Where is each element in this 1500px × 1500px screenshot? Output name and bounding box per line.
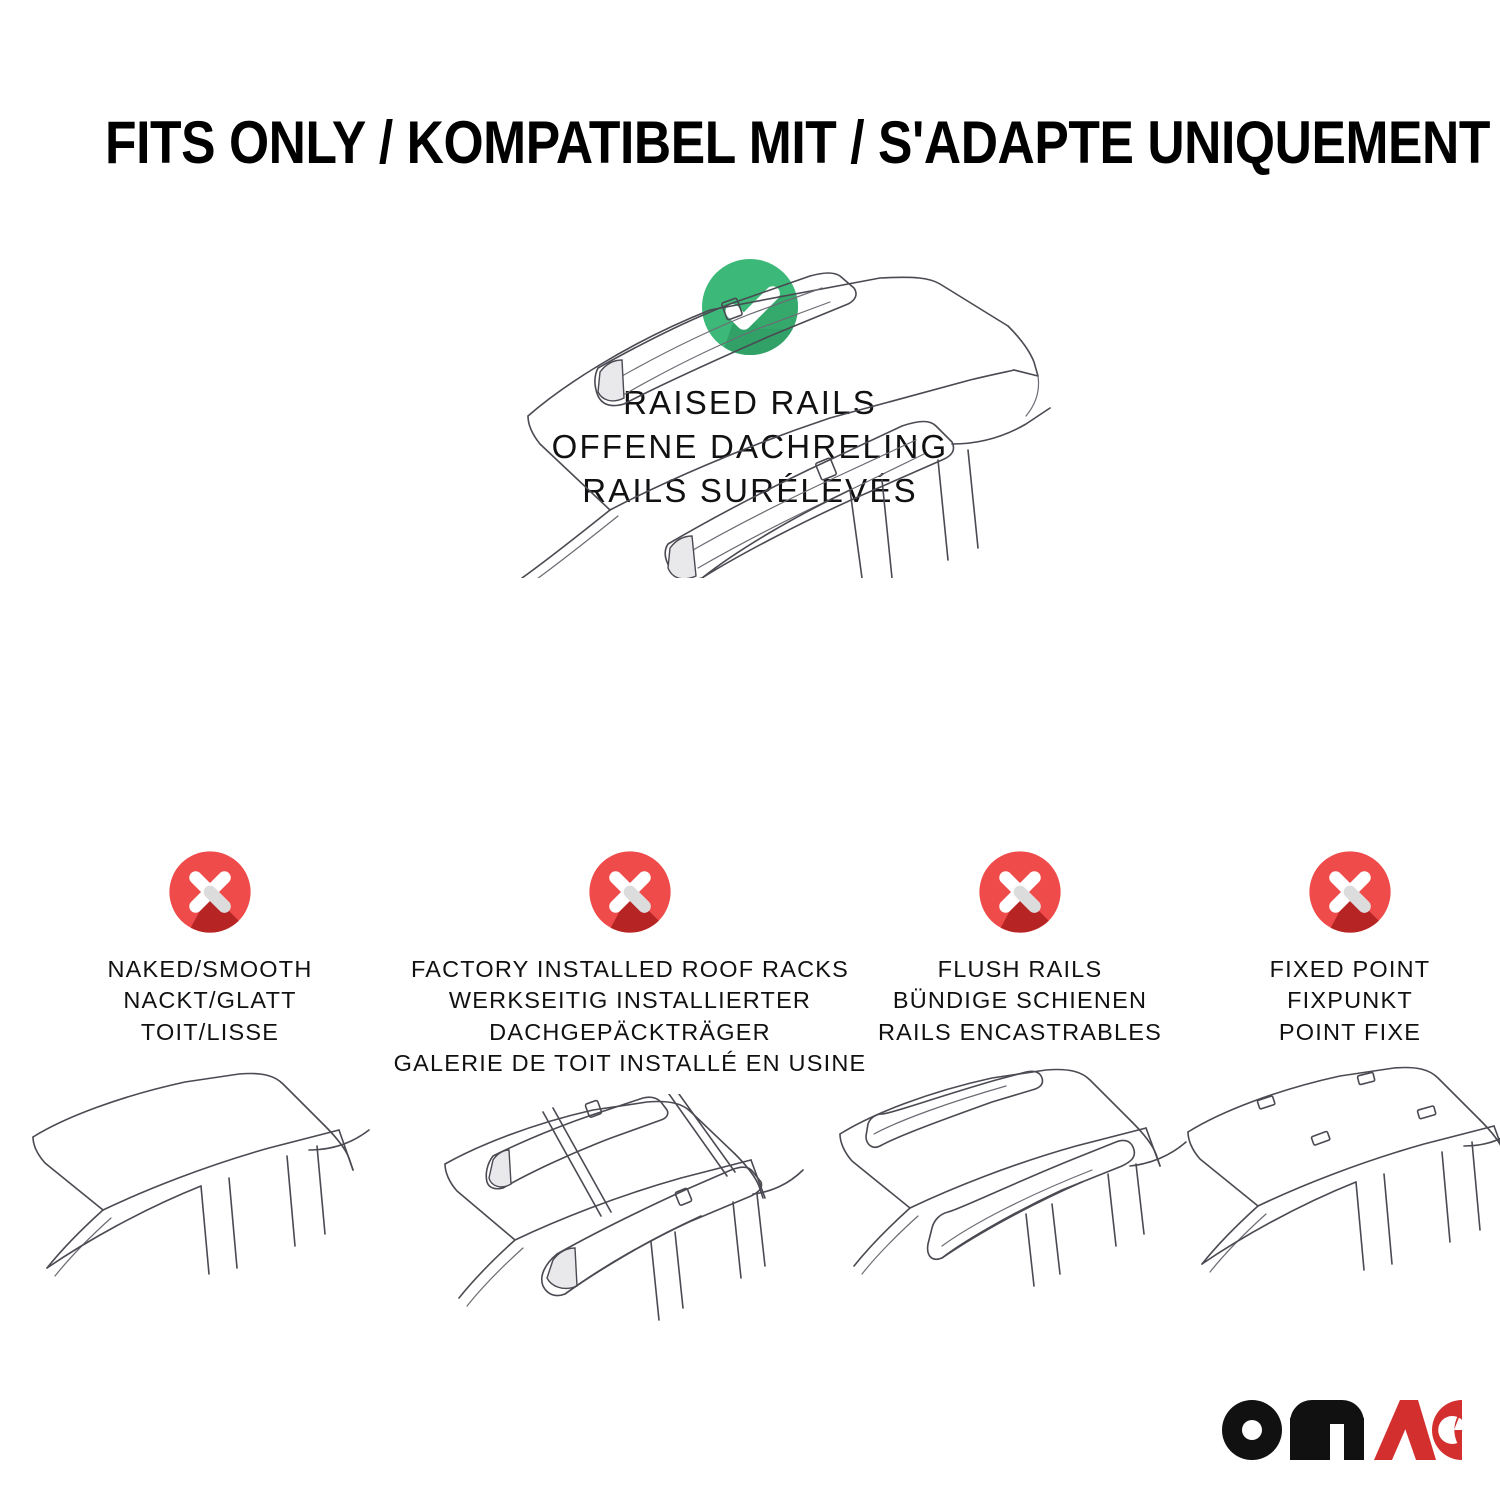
caption-line-fr: GALERIE DE TOIT INSTALLÉ EN USINE xyxy=(394,1048,867,1079)
page-title: FITS ONLY / KOMPATIBEL MIT / S'ADAPTE UN… xyxy=(105,108,1395,177)
cross-circle-icon-wrap-3 xyxy=(1306,848,1394,948)
caption-line-fr: POINT FIXE xyxy=(1270,1017,1431,1048)
omac-logo-mark xyxy=(1222,1400,1462,1462)
roof-raised-rails-drawing xyxy=(410,248,1090,578)
roof-naked-smooth-illustration xyxy=(25,1062,395,1297)
omac-logo xyxy=(1222,1400,1462,1462)
cross-circle-icon xyxy=(1306,848,1394,936)
caption-line-de-2: DACHGEPÄCKTRÄGER xyxy=(394,1017,867,1048)
cross-circle-icon xyxy=(586,848,674,936)
incompatible-section: NAKED/SMOOTH NACKT/GLATT TOIT/LISSE xyxy=(0,848,1500,1329)
cross-circle-icon xyxy=(166,848,254,936)
roof-flush-rails-illustration xyxy=(830,1062,1210,1297)
incompatible-caption-3: FIXED POINT FIXPUNKT POINT FIXE xyxy=(1270,954,1431,1048)
caption-line-de: NACKT/GLATT xyxy=(107,985,312,1016)
cross-circle-icon-wrap-2 xyxy=(976,848,1064,948)
incompatible-item-factory-roof-racks: FACTORY INSTALLED ROOF RACKS WERKSEITIG … xyxy=(420,848,840,1329)
caption-line-de-1: WERKSEITIG INSTALLIERTER xyxy=(394,985,867,1016)
incompatible-item-flush-rails: FLUSH RAILS BÜNDIGE SCHIENEN RAILS ENCAS… xyxy=(840,848,1200,1297)
cross-circle-icon-wrap-1 xyxy=(586,848,674,948)
incompatible-item-fixed-point: FIXED POINT FIXPUNKT POINT FIXE xyxy=(1200,848,1500,1297)
caption-line-de: FIXPUNKT xyxy=(1270,985,1431,1016)
roof-with-raised-rails-illustration xyxy=(0,248,1500,578)
roof-fixed-point-illustration xyxy=(1180,1062,1500,1297)
caption-line-en: FIXED POINT xyxy=(1270,954,1431,985)
caption-line-fr: RAILS ENCASTRABLES xyxy=(878,1017,1162,1048)
caption-line-en: NAKED/SMOOTH xyxy=(107,954,312,985)
incompatible-item-naked-smooth: NAKED/SMOOTH NACKT/GLATT TOIT/LISSE xyxy=(0,848,420,1297)
caption-line-de: BÜNDIGE SCHIENEN xyxy=(878,985,1162,1016)
incompatible-caption-0: NAKED/SMOOTH NACKT/GLATT TOIT/LISSE xyxy=(107,954,312,1048)
caption-line-en: FLUSH RAILS xyxy=(878,954,1162,985)
cross-circle-icon-wrap-0 xyxy=(166,848,254,948)
caption-line-fr: TOIT/LISSE xyxy=(107,1017,312,1048)
incompatible-caption-2: FLUSH RAILS BÜNDIGE SCHIENEN RAILS ENCAS… xyxy=(878,954,1162,1048)
roof-factory-roof-racks-illustration xyxy=(435,1094,825,1329)
incompatible-caption-1: FACTORY INSTALLED ROOF RACKS WERKSEITIG … xyxy=(394,954,867,1080)
caption-line-en: FACTORY INSTALLED ROOF RACKS xyxy=(394,954,867,985)
cross-circle-icon xyxy=(976,848,1064,936)
